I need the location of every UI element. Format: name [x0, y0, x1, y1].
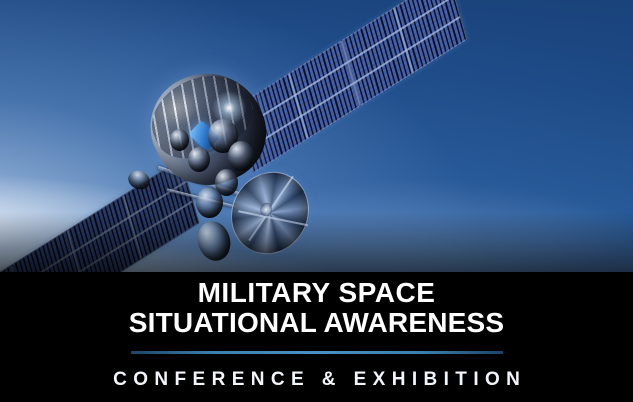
propellant-tank [170, 129, 189, 151]
title-divider-rule [131, 351, 503, 354]
panel-rib [393, 8, 413, 73]
title-line-1: MILITARY SPACE [0, 278, 633, 308]
panel-rib [341, 41, 361, 106]
sun-glint-highlight [212, 91, 246, 125]
title-lockup: MILITARY SPACE SITUATIONAL AWARENESS CON… [0, 278, 633, 391]
propellant-tank [228, 141, 254, 171]
propellant-tank [188, 147, 210, 172]
conference-banner: MILITARY SPACE SITUATIONAL AWARENESS CON… [0, 0, 633, 402]
subtitle: CONFERENCE & EXHIBITION [0, 369, 633, 391]
panel-rib [288, 74, 308, 139]
title-line-2: SITUATIONAL AWARENESS [0, 308, 633, 338]
